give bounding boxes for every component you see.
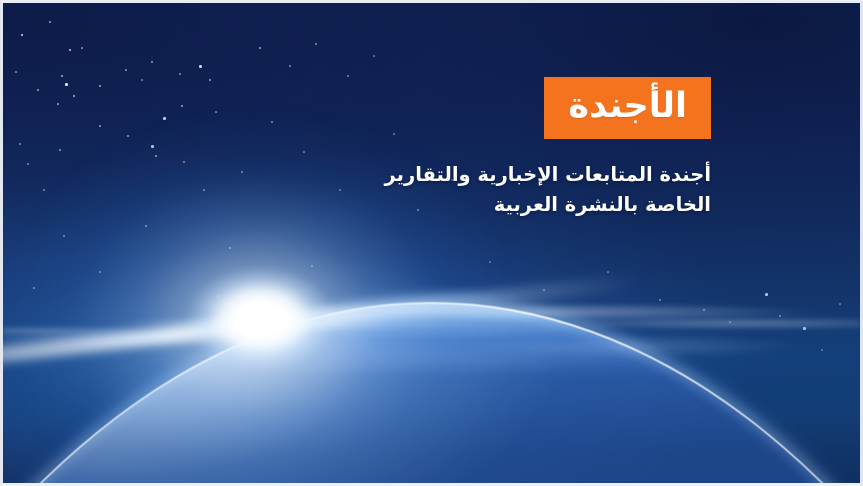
page-title: الأجندة [544, 77, 711, 139]
title-text-block: الأجندة أجندة المتابعات الإخبارية والتقا… [385, 77, 711, 219]
agenda-slide: الأجندة أجندة المتابعات الإخبارية والتقا… [0, 0, 863, 486]
subtitle-text: أجندة المتابعات الإخبارية والتقارير الخا… [385, 160, 711, 219]
